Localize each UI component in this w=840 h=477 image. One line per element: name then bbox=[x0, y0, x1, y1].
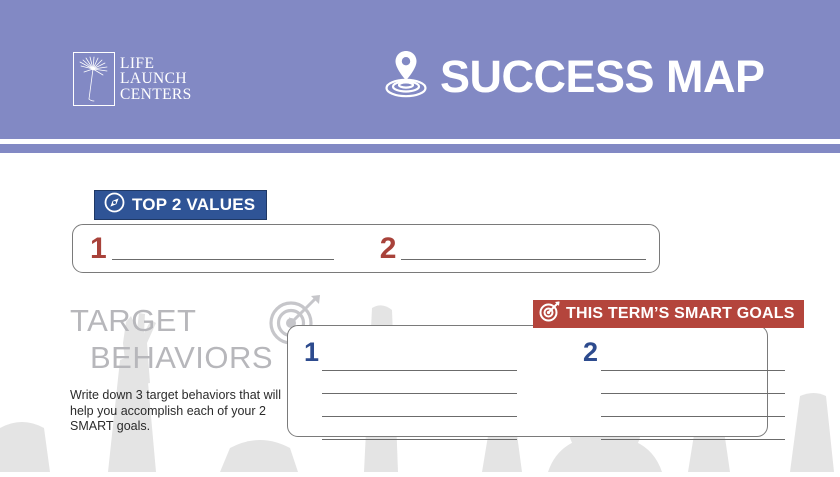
smart-goal-write-line[interactable] bbox=[601, 371, 785, 394]
smart-goal-write-line[interactable] bbox=[322, 371, 517, 394]
target-behaviors-block: TARGET BEHAVIORS Write down 3 target beh… bbox=[70, 305, 285, 435]
page-title-group: SUCCESS MAP bbox=[383, 48, 765, 105]
smart-goal-write-line[interactable] bbox=[601, 417, 785, 440]
value-number-2: 2 bbox=[380, 234, 397, 264]
top-values-input-box[interactable]: 1 2 bbox=[72, 224, 660, 273]
smart-goal-write-line[interactable] bbox=[322, 348, 517, 371]
target-behaviors-heading-line-1: TARGET bbox=[70, 305, 285, 336]
target-behaviors-description: Write down 3 target behaviors that will … bbox=[70, 388, 285, 435]
smart-goal-write-line[interactable] bbox=[322, 394, 517, 417]
smart-goals-input-box[interactable]: 1 2 bbox=[287, 325, 768, 437]
smart-goals-banner-label: THIS TERM’S SMART GOALS bbox=[566, 305, 795, 323]
brand-line-2: LAUNCH bbox=[120, 71, 192, 87]
target-behaviors-heading-line-2: BEHAVIORS bbox=[70, 342, 285, 373]
smart-goal-lines-2[interactable] bbox=[601, 348, 785, 440]
smart-goal-number-1: 1 bbox=[304, 339, 319, 366]
header-accent-bar bbox=[0, 144, 840, 153]
top-values-banner-label: TOP 2 VALUES bbox=[132, 195, 255, 215]
dandelion-seed-logo-icon bbox=[73, 52, 115, 106]
smart-goal-write-line[interactable] bbox=[601, 348, 785, 371]
value-write-line-2[interactable] bbox=[401, 259, 646, 260]
smart-goal-number-2: 2 bbox=[583, 339, 598, 366]
smart-goal-column-1[interactable]: 1 bbox=[288, 326, 543, 436]
column-spacer bbox=[543, 326, 567, 436]
value-entry-1[interactable]: 1 bbox=[90, 225, 334, 272]
smart-goals-banner: THIS TERM’S SMART GOALS bbox=[533, 300, 804, 328]
smart-goal-write-line[interactable] bbox=[601, 394, 785, 417]
value-write-line-1[interactable] bbox=[112, 259, 334, 260]
top-values-banner: TOP 2 VALUES bbox=[94, 190, 267, 220]
value-entry-2[interactable]: 2 bbox=[380, 225, 647, 272]
target-arrow-icon bbox=[539, 301, 560, 327]
smart-goal-lines-1[interactable] bbox=[322, 348, 517, 440]
smart-goal-write-line[interactable] bbox=[322, 417, 517, 440]
smart-goal-column-2[interactable]: 2 bbox=[567, 326, 765, 436]
brand-line-3: CENTERS bbox=[120, 87, 192, 103]
brand-logo: LIFE LAUNCH CENTERS bbox=[73, 52, 192, 106]
brand-line-1: LIFE bbox=[120, 56, 192, 72]
compass-icon bbox=[104, 192, 125, 218]
brand-wordmark: LIFE LAUNCH CENTERS bbox=[120, 56, 192, 103]
map-pin-ripple-icon bbox=[383, 48, 429, 105]
value-number-1: 1 bbox=[90, 234, 107, 264]
page-title: SUCCESS MAP bbox=[440, 54, 765, 99]
